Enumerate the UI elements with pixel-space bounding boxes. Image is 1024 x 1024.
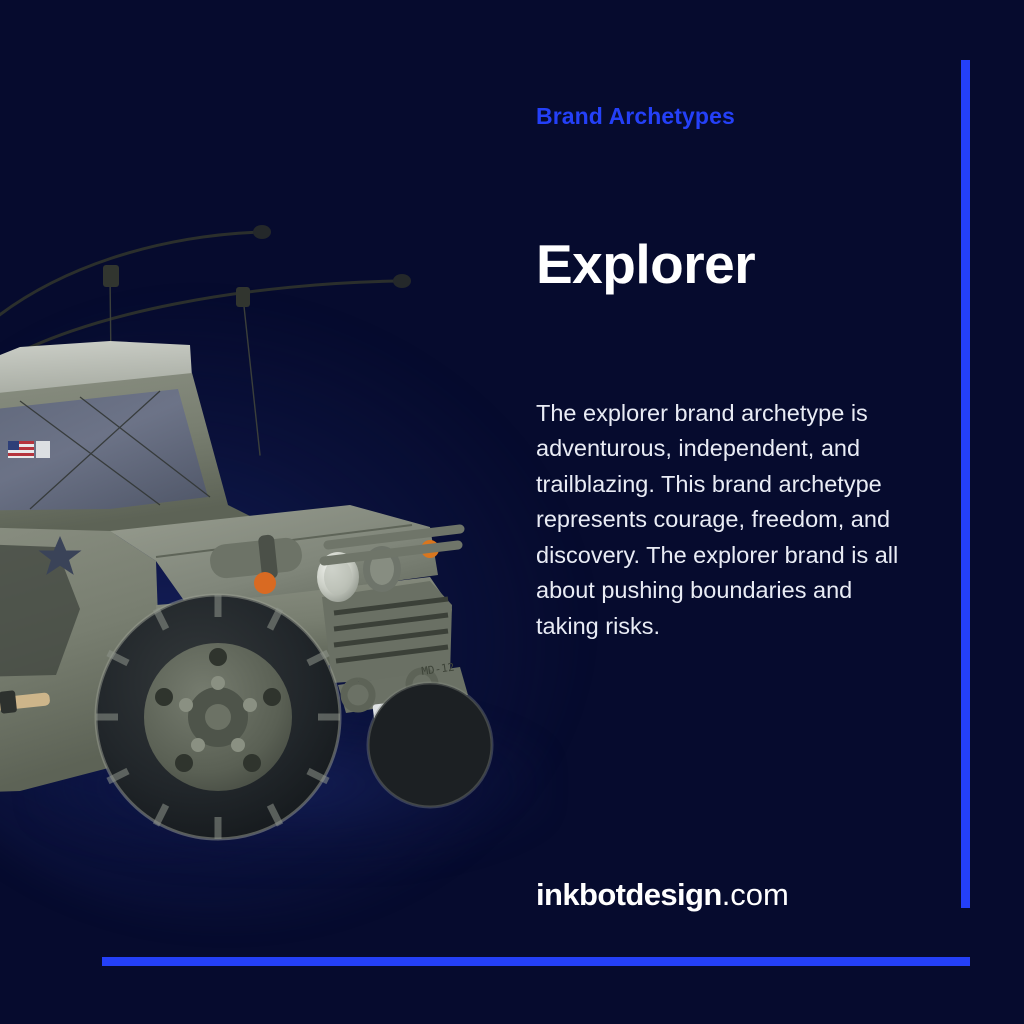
rear-tire bbox=[368, 683, 492, 807]
body-paragraph: The explorer brand archetype is adventur… bbox=[536, 396, 914, 645]
whip-antenna-group bbox=[0, 225, 411, 455]
fender-cylinder bbox=[208, 534, 303, 594]
eyebrow-label: Brand Archetypes bbox=[536, 103, 735, 130]
accent-vertical-rule bbox=[961, 60, 970, 908]
svg-text:MD-12: MD-12 bbox=[421, 660, 456, 677]
marker-lamp-amber bbox=[254, 572, 276, 594]
wordmark-tld: .com bbox=[722, 877, 789, 912]
front-grille bbox=[322, 581, 452, 683]
brush-guard bbox=[324, 529, 460, 561]
svg-text:TP 20: TP 20 bbox=[148, 615, 186, 628]
svg-text:68086: 68086 bbox=[210, 550, 266, 570]
axe-tool bbox=[0, 690, 50, 719]
footer-wordmark: inkbotdesign.com bbox=[536, 877, 789, 913]
bumper-shackles bbox=[344, 671, 435, 709]
front-fender bbox=[156, 577, 452, 675]
license-plate bbox=[372, 690, 445, 734]
wordmark-brand: inkbotdesign bbox=[536, 877, 722, 912]
headlight-left bbox=[317, 552, 359, 602]
us-flag-sticker bbox=[8, 441, 50, 458]
text-column: Brand Archetypes Explorer The explorer b… bbox=[536, 0, 936, 1024]
headlight-right bbox=[363, 546, 401, 592]
body-side bbox=[0, 525, 160, 795]
front-bumper bbox=[338, 667, 468, 713]
background-glow bbox=[0, 300, 580, 920]
star-insignia bbox=[38, 536, 81, 575]
military-jeep-image: 68086 TP 20 bbox=[0, 205, 520, 845]
vehicle-ground-shadow bbox=[30, 700, 550, 870]
poster-canvas: 68086 TP 20 bbox=[0, 0, 1024, 1024]
windshield-frame bbox=[0, 373, 260, 535]
windshield-glass bbox=[0, 389, 208, 511]
hood bbox=[110, 505, 438, 609]
canvas-top bbox=[0, 341, 192, 419]
front-tire bbox=[96, 595, 340, 839]
page-title: Explorer bbox=[536, 236, 755, 294]
turn-signal-amber bbox=[421, 540, 439, 558]
